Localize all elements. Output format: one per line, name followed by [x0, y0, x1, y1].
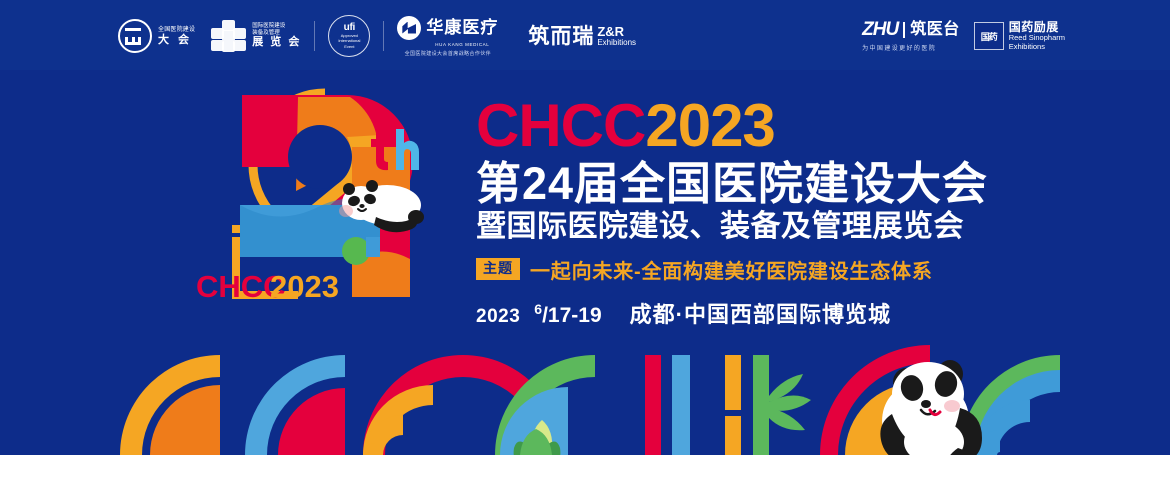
logo-divider — [383, 21, 384, 51]
zr-en-text: Exhibitions — [597, 38, 636, 48]
huakang-mark-icon — [397, 16, 421, 40]
headline-block: CHCC2023 第24届全国医院建设大会 暨国际医院建设、装备及管理展览会 主… — [476, 96, 1076, 329]
hospital-expo-logo: 国际医院建设 装备及管理 展 览 会 — [211, 20, 301, 52]
venue-text: 成都·中国西部国际博览城 — [630, 297, 891, 329]
chcc-2023-banner: 全国医院建设 大 会 国际医院建设 装备及管理 展 览 会 — [0, 0, 1170, 480]
ufi-badge-icon: ufi Approved International Event — [328, 15, 370, 57]
sinopharm-mark-text: 国药 — [981, 30, 997, 43]
date-month-day: 6/17-19 — [534, 301, 601, 328]
zr-cn-text: 筑而瑞 — [528, 26, 594, 47]
svg-text:2023: 2023 — [270, 269, 339, 304]
ufi-logo: ufi Approved International Event — [328, 15, 370, 57]
page-subtitle: 暨国际医院建设、装备及管理展览会 — [476, 210, 1076, 243]
zr-exhibitions-logo: 筑而瑞 Z&R Exhibitions — [528, 25, 636, 48]
bamboo-leaf-2 — [769, 408, 805, 430]
brand-title-chcc: CHCC — [476, 92, 645, 159]
anniversary-24-emblem: CHCC 2023 — [180, 85, 425, 315]
chcc-congress-logo: 全国医院建设 大 会 — [118, 19, 195, 53]
panda-cheek — [944, 400, 960, 412]
congress-logo-maintext: 大 会 — [158, 35, 195, 46]
theme-badge: 主题 — [476, 258, 520, 279]
zhu-tagline: 为中国建设更好的医院 — [862, 43, 936, 52]
partner-logos-left: 全国医院建设 大 会 国际医院建设 装备及管理 展 览 会 — [118, 14, 636, 58]
reed-sinopharm-logo: 国药 国药励展 Reed Sinopharm Exhibitions — [974, 21, 1065, 51]
ufi-label: ufi — [344, 23, 355, 33]
bottom-decor-band — [0, 330, 1170, 480]
theme-text: 一起向未来-全面构建美好医院建设生态体系 — [530, 255, 933, 284]
green-bamboo-bar — [753, 355, 811, 455]
brand-title-year: 2023 — [645, 92, 774, 159]
zr-en-abbr: Z&R — [597, 25, 636, 38]
theme-row: 主题 一起向未来-全面构建美好医院建设生态体系 — [476, 255, 1076, 284]
congress-logo-subtext: 全国医院建设 — [158, 27, 195, 33]
huakang-en-text: HUA KANG MEDICAL — [435, 42, 489, 47]
panda-nose — [921, 400, 931, 408]
amber-wifi-arcs — [363, 385, 433, 455]
expo-logo-subtext-1: 国际医院建设 — [252, 24, 301, 30]
date-days: /17-19 — [542, 304, 602, 327]
congress-building-icon — [118, 19, 152, 53]
huakang-medical-logo: 华康医疗 HUA KANG MEDICAL 全国医院建设大会首席战略合作伙伴 — [397, 16, 498, 57]
expo-logo-maintext: 展 览 会 — [252, 37, 301, 48]
cube-cross-icon — [211, 20, 247, 52]
ufi-sub-3: Event — [344, 45, 354, 50]
zhu-divider — [903, 22, 905, 38]
huakang-cn-text: 华康医疗 — [426, 19, 498, 36]
sinopharm-mark-icon: 国药 — [974, 22, 1004, 50]
partner-logos-right: ZHU 筑医台 为中国建设更好的医院 国药 国药励展 Reed Sinophar… — [862, 14, 1065, 58]
amber-bamboo-bar — [725, 355, 741, 455]
page-title: 第24届全国医院建设大会 — [476, 160, 1076, 208]
date-month: 6 — [534, 301, 542, 317]
blue-bar — [672, 355, 690, 455]
zhu-yitai-logo: ZHU 筑医台 为中国建设更好的医院 — [862, 20, 960, 52]
zhu-en-abbr: ZHU — [862, 20, 898, 39]
logo-divider — [314, 21, 315, 51]
huakang-tagline: 全国医院建设大会首席战略合作伙伴 — [405, 50, 491, 57]
date-venue-row: 2023 6/17-19 成都·中国西部国际博览城 — [476, 297, 1076, 329]
blue-wifi-arcs — [975, 370, 1060, 455]
crimson-bar — [645, 355, 661, 455]
sinopharm-en-2: Exhibitions — [1009, 43, 1065, 51]
brand-title: CHCC2023 — [476, 96, 1076, 156]
date-year: 2023 — [476, 306, 520, 328]
emblem-caption: CHCC 2023 — [196, 269, 339, 304]
bottom-white-strip — [0, 455, 1170, 480]
zhu-cn-text: 筑医台 — [910, 22, 960, 38]
